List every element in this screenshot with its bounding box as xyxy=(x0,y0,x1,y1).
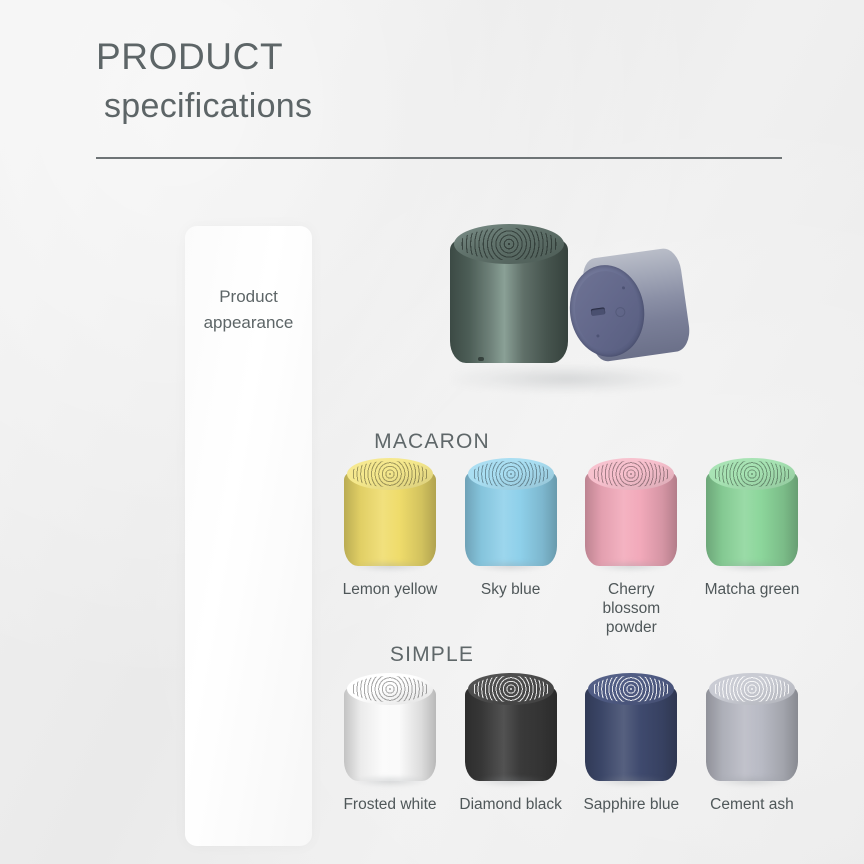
group-title-simple: SIMPLE xyxy=(0,643,864,667)
header-divider xyxy=(96,157,782,159)
hero-product-image xyxy=(430,212,700,412)
hero-speaker-tilted xyxy=(563,246,693,371)
speaker-top-cap xyxy=(468,458,554,490)
product-appearance-label: Product appearance xyxy=(185,284,312,336)
color-label: Cherry blossom powder xyxy=(577,580,685,637)
speaker-thumbnail xyxy=(344,673,436,781)
speaker-grille-icon xyxy=(351,461,429,487)
color-swatch[interactable]: Frosted white xyxy=(336,673,444,814)
speaker-top-cap xyxy=(347,673,433,705)
color-label: Cement ash xyxy=(698,795,806,814)
speaker-thumbnail xyxy=(706,458,798,566)
color-label: Sky blue xyxy=(457,580,565,599)
color-swatch[interactable]: Cement ash xyxy=(698,673,806,814)
speaker-thumbnail xyxy=(465,458,557,566)
speaker-grille-icon xyxy=(351,676,429,702)
color-swatch[interactable]: Sapphire blue xyxy=(577,673,685,814)
speaker-shadow xyxy=(714,560,790,572)
page-title-primary: PRODUCT xyxy=(96,34,786,80)
speaker-shadow xyxy=(352,560,428,572)
page-header: PRODUCT specifications xyxy=(96,34,786,128)
speaker-grille-icon xyxy=(592,676,670,702)
color-label: Sapphire blue xyxy=(577,795,685,814)
speaker-grille-icon xyxy=(592,461,670,487)
speaker-top-cap xyxy=(347,458,433,490)
speaker-top-cap xyxy=(709,458,795,490)
hero-speaker-upright xyxy=(450,224,568,369)
usb-port-icon xyxy=(591,307,606,316)
screw-dot-icon xyxy=(622,286,625,289)
page-title-secondary: specifications xyxy=(104,84,786,128)
speaker-thumbnail xyxy=(585,673,677,781)
product-appearance-panel: Product appearance xyxy=(185,226,312,846)
color-label: Lemon yellow xyxy=(336,580,444,599)
speaker-shadow xyxy=(593,560,669,572)
speaker-top-cap xyxy=(709,673,795,705)
color-swatch[interactable]: Lemon yellow xyxy=(336,458,444,599)
group-title-macaron: MACARON xyxy=(0,430,864,454)
speaker-grille-icon xyxy=(472,676,550,702)
speaker-grille-icon xyxy=(713,676,791,702)
color-swatch[interactable]: Cherry blossom powder xyxy=(577,458,685,637)
speaker-shadow xyxy=(473,560,549,572)
speaker-port-icon xyxy=(478,357,484,361)
power-button-icon xyxy=(615,306,626,317)
speaker-shadow xyxy=(593,775,669,787)
speaker-top-cap xyxy=(588,673,674,705)
color-row-macaron: Lemon yellowSky blueCherry blossom powde… xyxy=(336,458,806,637)
speaker-thumbnail xyxy=(585,458,677,566)
speaker-thumbnail xyxy=(465,673,557,781)
color-swatch[interactable]: Sky blue xyxy=(457,458,565,599)
screw-dot-icon xyxy=(596,334,599,337)
speaker-grille-icon xyxy=(472,461,550,487)
speaker-top-cap xyxy=(454,224,564,264)
color-swatch[interactable]: Matcha green xyxy=(698,458,806,599)
color-row-simple: Frosted whiteDiamond blackSapphire blueC… xyxy=(336,673,806,814)
speaker-top-cap xyxy=(588,458,674,490)
speaker-grille-icon xyxy=(713,461,791,487)
speaker-base-inner xyxy=(570,267,645,355)
color-label: Frosted white xyxy=(336,795,444,814)
speaker-shadow xyxy=(473,775,549,787)
speaker-shadow xyxy=(714,775,790,787)
speaker-shadow xyxy=(352,775,428,787)
color-label: Diamond black xyxy=(457,795,565,814)
speaker-thumbnail xyxy=(706,673,798,781)
color-label: Matcha green xyxy=(698,580,806,599)
speaker-thumbnail xyxy=(344,458,436,566)
color-swatch[interactable]: Diamond black xyxy=(457,673,565,814)
speaker-top-cap xyxy=(468,673,554,705)
speaker-grille-icon xyxy=(459,228,559,260)
